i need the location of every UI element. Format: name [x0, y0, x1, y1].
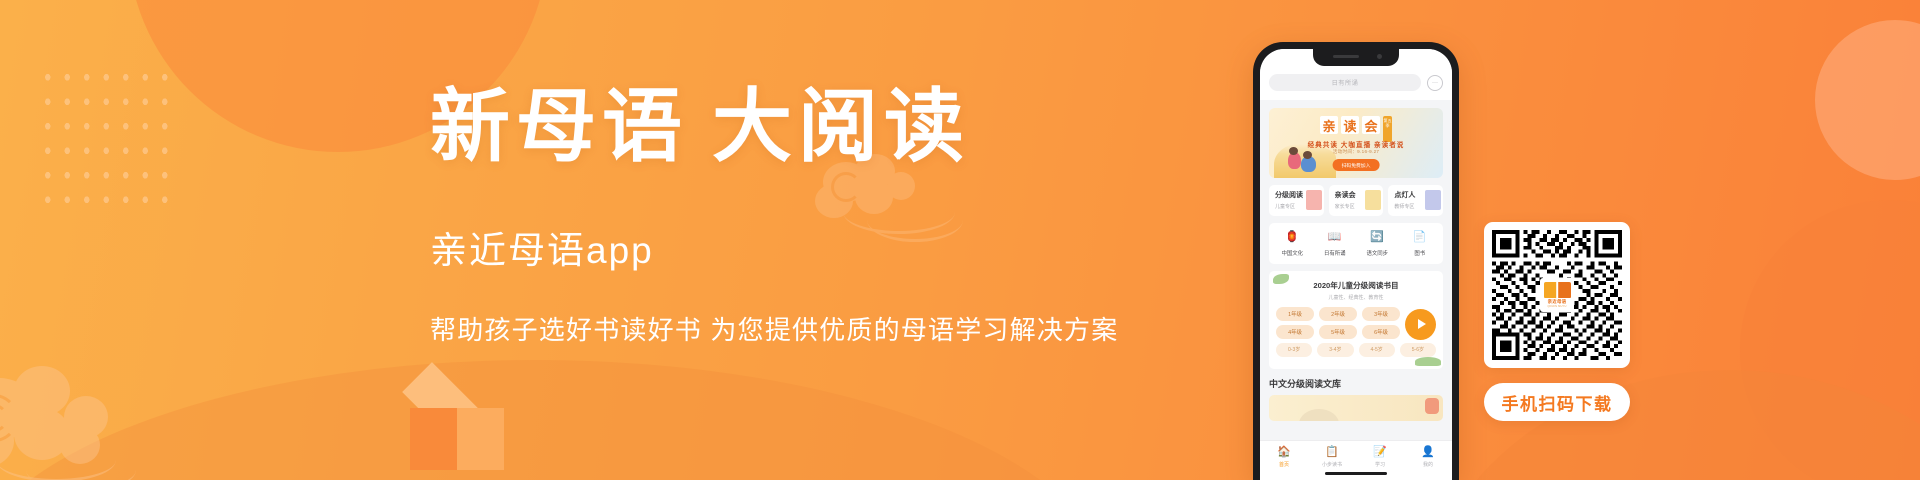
quick-icon-chinese-culture[interactable]: 🏮 中国文化 [1271, 230, 1314, 257]
hero-char-1: 亲 [1320, 116, 1338, 134]
grade-pill[interactable]: 2年级 [1319, 307, 1357, 321]
promo-banner: 新母语大阅读 亲近母语app 帮助孩子选好书读好书 为您提供优质的母语学习解决方… [0, 0, 1920, 480]
chat-bubble-icon[interactable]: ··· [1427, 75, 1443, 91]
library-thumb-decoration [1425, 398, 1439, 414]
open-book-logo-icon [1544, 282, 1571, 298]
play-triangle-icon [1418, 319, 1426, 329]
tab-label: 首页 [1260, 461, 1308, 468]
leaf-icon-bottom-right [1415, 357, 1441, 366]
age-pill[interactable]: 4-5岁 [1359, 343, 1395, 356]
quick-icon-label: 语文同步 [1356, 249, 1399, 257]
hero-char-3: 会 [1362, 116, 1380, 134]
tab-profile[interactable]: 👤 我的 [1404, 445, 1452, 480]
booklist-title: 2020年儿童分级阅读书目 [1276, 280, 1436, 291]
qr-download-block: 亲近母语 QINJIN MUYU 手机扫码下载 [1484, 222, 1630, 421]
quick-icon-books[interactable]: 📄 图书 [1399, 230, 1442, 257]
cube-top-face [402, 362, 486, 446]
document-icon: 📄 [1412, 230, 1428, 246]
cube-right-face [457, 408, 504, 470]
headline-part-2: 大阅读 [712, 84, 970, 172]
grade-selector: 1年级 2年级 3年级 4年级 5年级 6年级 0-3岁 3-4岁 4-5岁 5… [1276, 307, 1436, 357]
headline-part-1: 新母语 [430, 84, 688, 172]
speaker-grille-icon [1333, 55, 1359, 58]
isometric-cube-decoration [396, 370, 516, 480]
phone-notch [1313, 49, 1399, 66]
hero-promo-card[interactable]: 亲 读 会 第五季 经典共读 大咖直播 亲读者说 活动时间：9.16-9.27 … [1269, 108, 1443, 178]
kid-figure-blue [1301, 156, 1316, 172]
subheadline: 亲近母语app [430, 220, 1210, 274]
front-camera-icon [1377, 54, 1382, 59]
download-button[interactable]: 手机扫码下载 [1484, 383, 1630, 421]
search-row: 日有所诵 ··· [1269, 74, 1443, 91]
dot-grid-pattern [35, 62, 171, 212]
library-section-title: 中文分级阅读文库 [1269, 377, 1443, 390]
hero-join-button[interactable]: 扫码免费加入 [1333, 159, 1380, 171]
hero-date: 活动时间：9.16-9.27 [1269, 149, 1443, 155]
grade-pill[interactable]: 5年级 [1319, 325, 1357, 339]
quick-icon-label: 中国文化 [1271, 249, 1314, 257]
tagline: 帮助孩子选好书读好书 为您提供优质的母语学习解决方案 [430, 310, 1210, 347]
hero-char-2: 读 [1341, 116, 1359, 134]
grade-pill[interactable]: 4年级 [1276, 325, 1314, 339]
age-row: 0-3岁 3-4岁 4-5岁 5-6岁 [1276, 343, 1436, 356]
category-card-teacher[interactable]: 点灯人 教师专区 [1388, 185, 1443, 216]
tab-label: 我的 [1404, 461, 1452, 468]
home-indicator [1325, 472, 1387, 475]
tab-label: 小步读书 [1308, 461, 1356, 468]
age-pill[interactable]: 0-3岁 [1276, 343, 1312, 356]
pencil-icon: 📝 [1373, 445, 1387, 459]
person-icon: 👤 [1421, 445, 1435, 459]
booklist-subtitle: 儿童性、经典性、教育性 [1276, 294, 1436, 301]
tab-label: 学习 [1356, 461, 1404, 468]
lamp-icon [1425, 190, 1441, 210]
banner-copy: 新母语大阅读 亲近母语app 帮助孩子选好书读好书 为您提供优质的母语学习解决方… [430, 86, 1210, 347]
phone-mockup: 日有所诵 ··· 亲 读 会 第五季 经典共读 大咖直播 亲读者说 活动时间：9… [1253, 42, 1459, 480]
circle-blob-right-middle [1740, 200, 1920, 480]
qr-center-logo: 亲近母语 QINJIN MUYU [1540, 278, 1574, 312]
chinese-cloud-icon-bottom-left [0, 360, 252, 480]
play-video-button[interactable] [1405, 309, 1436, 340]
cube-left-face [410, 408, 457, 470]
hill-shape-left [0, 360, 1110, 480]
open-book-icon [1365, 190, 1381, 210]
quick-icon-row: 🏮 中国文化 📖 日有所诵 🔄 语文同步 📄 图书 [1269, 223, 1443, 264]
list-icon: 📋 [1325, 445, 1339, 459]
logo-name-en: QINJIN MUYU [1547, 305, 1566, 308]
booklist-card: 2020年儿童分级阅读书目 儿童性、经典性、教育性 1年级 2年级 3年级 4年… [1269, 271, 1443, 369]
quick-icon-daily-recite[interactable]: 📖 日有所诵 [1314, 230, 1357, 257]
book-stack-icon [1306, 190, 1322, 210]
quick-icon-label: 日有所诵 [1314, 249, 1357, 257]
sync-icon: 🔄 [1369, 230, 1385, 246]
lantern-icon: 🏮 [1284, 230, 1300, 246]
age-pill[interactable]: 5-6岁 [1400, 343, 1436, 356]
circle-blob-top-right [1815, 20, 1920, 180]
quick-icon-label: 图书 [1399, 249, 1442, 257]
grade-pill[interactable]: 1年级 [1276, 307, 1314, 321]
library-card[interactable] [1269, 395, 1443, 421]
category-card-parent-reading[interactable]: 亲读会 家长专区 [1329, 185, 1384, 216]
tab-home[interactable]: 🏠 首页 [1260, 445, 1308, 480]
grade-pill[interactable]: 3年级 [1362, 307, 1400, 321]
search-input[interactable]: 日有所诵 [1269, 74, 1421, 91]
category-row: 分级阅读 儿童专区 亲读会 家长专区 点灯人 教师专区 [1269, 185, 1443, 216]
book-icon: 📖 [1327, 230, 1343, 246]
category-card-graded-reading[interactable]: 分级阅读 儿童专区 [1269, 185, 1324, 216]
age-pill[interactable]: 3-4岁 [1317, 343, 1353, 356]
library-arc-decoration [1299, 409, 1339, 421]
grade-pill[interactable]: 6年级 [1362, 325, 1400, 339]
phone-screen: 日有所诵 ··· 亲 读 会 第五季 经典共读 大咖直播 亲读者说 活动时间：9… [1260, 49, 1452, 480]
hero-subtitle: 经典共读 大咖直播 亲读者说 [1269, 139, 1443, 149]
home-icon: 🏠 [1277, 445, 1291, 459]
qr-code-card[interactable]: 亲近母语 QINJIN MUYU [1484, 222, 1630, 368]
quick-icon-sync-chinese[interactable]: 🔄 语文同步 [1356, 230, 1399, 257]
headline: 新母语大阅读 [430, 86, 1210, 170]
